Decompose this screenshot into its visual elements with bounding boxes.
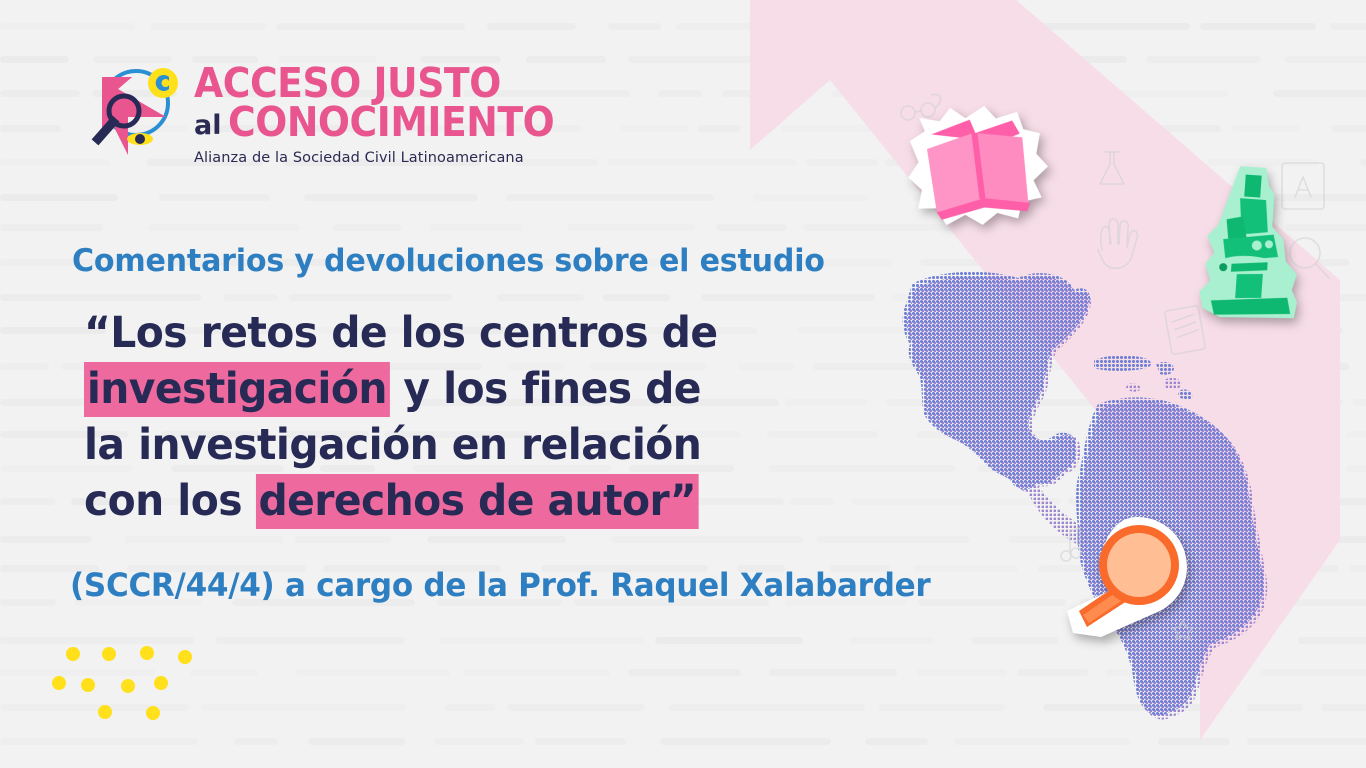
slide-canvas: ACCESO JUSTO al CONOCIMIENTO Alianza de … [0, 0, 1366, 768]
logo-tagline: Alianza de la Sociedad Civil Latinoameri… [194, 150, 583, 166]
headline-line-l4: con los derechos de autor” [84, 473, 768, 529]
logo-mark-icon [88, 55, 184, 165]
kicker-text: Comentarios y devoluciones sobre el estu… [72, 243, 825, 279]
headline-highlight: derechos de autor” [256, 474, 699, 529]
headline-quote: “Los retos de los centros deinvestigació… [84, 305, 804, 529]
yellow-dot [102, 647, 116, 661]
logo-word-al: al [194, 112, 221, 139]
headline-text: y los fines de [390, 364, 701, 414]
yellow-dot [178, 650, 192, 664]
logo-line-2: CONOCIMIENTO [228, 104, 554, 142]
headline-line-l3: la investigación en relación [84, 417, 768, 473]
yellow-dot [81, 678, 95, 692]
yellow-dot [154, 676, 168, 690]
open-book-sticker-icon [897, 87, 1057, 239]
headline-highlight: investigación [84, 362, 390, 417]
headline-line-l1: “Los retos de los centros de [84, 305, 768, 361]
magnifier-sticker-icon [1065, 515, 1190, 640]
headline-line-l2: investigación y los fines de [84, 361, 768, 417]
yellow-dot [52, 676, 66, 690]
headline-text: la investigación en relación [84, 420, 701, 470]
headline-text: con los [84, 476, 256, 526]
subtitle-text: (SCCR/44/4) a cargo de la Prof. Raquel X… [70, 566, 930, 604]
headline-text: “Los retos de los centros de [84, 308, 718, 358]
logo-wordmark: ACCESO JUSTO al CONOCIMIENTO Alianza de … [194, 55, 583, 166]
yellow-dot-pattern [52, 646, 192, 712]
brand-logo[interactable]: ACCESO JUSTO al CONOCIMIENTO Alianza de … [88, 55, 583, 166]
microscope-sticker-icon [1190, 159, 1311, 326]
yellow-dot [66, 647, 80, 661]
yellow-dot [121, 679, 135, 693]
yellow-dot [140, 646, 154, 660]
